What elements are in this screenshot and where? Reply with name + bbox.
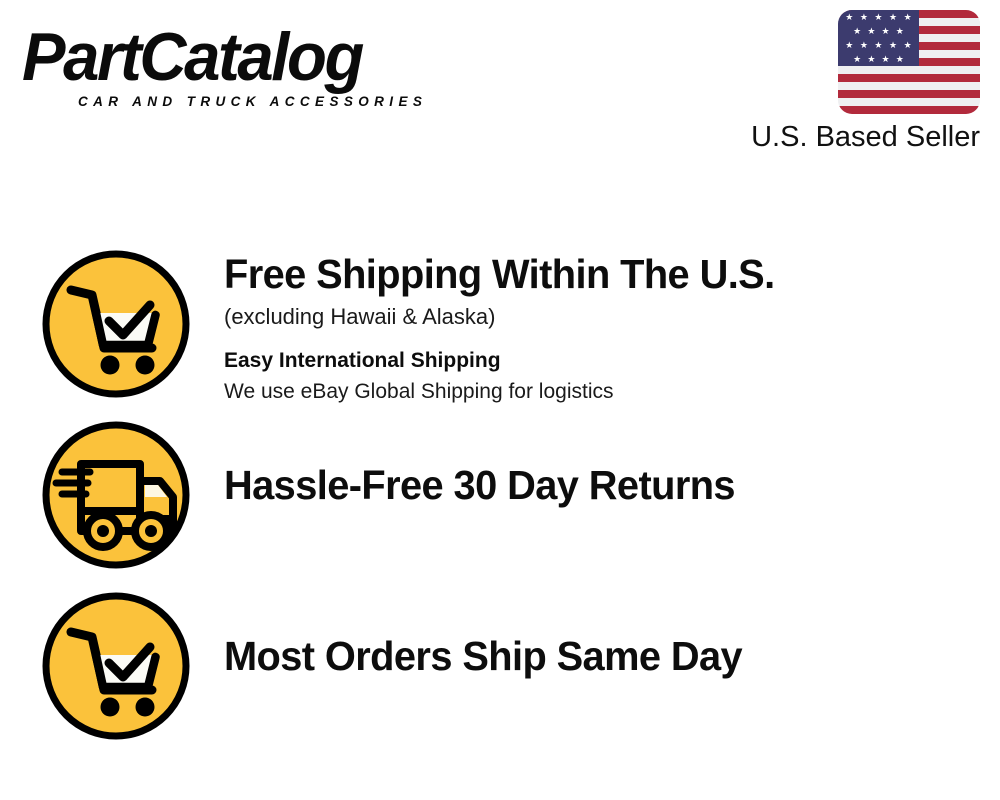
feature-text-block: Hassle-Free 30 Day Returns [192,419,980,509]
feature-row: Most Orders Ship Same Day [40,590,980,742]
feature-secondary-text: We use eBay Global Shipping for logistic… [224,377,980,406]
flag-star-row: ★★★★ [838,52,919,66]
flag-star-row: ★★★★★ [838,10,919,24]
shopping-cart-check-icon [40,248,192,400]
feature-row: Free Shipping Within The U.S. (excluding… [40,248,980,406]
delivery-truck-icon [40,419,192,571]
flag-star-row: ★★★★★ [838,38,919,52]
us-based-seller-badge: ★★★★★ ★★★★ ★★★★★ ★★★★ U.S. Based Seller [716,8,986,158]
flag-canton: ★★★★★ ★★★★ ★★★★★ ★★★★ [838,10,919,66]
brand-logo: PartCatalog CAR AND TRUCK ACCESSORIES [22,22,492,112]
feature-subtitle: (excluding Hawaii & Alaska) [224,302,980,332]
feature-title: Free Shipping Within The U.S. [224,250,957,298]
feature-title: Most Orders Ship Same Day [224,632,957,680]
promo-banner: PartCatalog CAR AND TRUCK ACCESSORIES [0,0,1000,800]
brand-wordmark: PartCatalog [22,22,473,92]
us-flag-icon: ★★★★★ ★★★★ ★★★★★ ★★★★ [838,10,980,114]
banner-header: PartCatalog CAR AND TRUCK ACCESSORIES [0,0,1000,170]
shopping-cart-check-icon [40,590,192,742]
feature-row: Hassle-Free 30 Day Returns [40,419,980,571]
feature-text-block: Most Orders Ship Same Day [192,590,980,680]
us-based-seller-label: U.S. Based Seller [751,120,980,154]
feature-secondary-title: Easy International Shipping [224,346,980,375]
brand-tagline: CAR AND TRUCK ACCESSORIES [78,94,427,109]
flag-star-row: ★★★★ [838,24,919,38]
feature-title: Hassle-Free 30 Day Returns [224,461,957,509]
feature-text-block: Free Shipping Within The U.S. (excluding… [192,248,980,406]
